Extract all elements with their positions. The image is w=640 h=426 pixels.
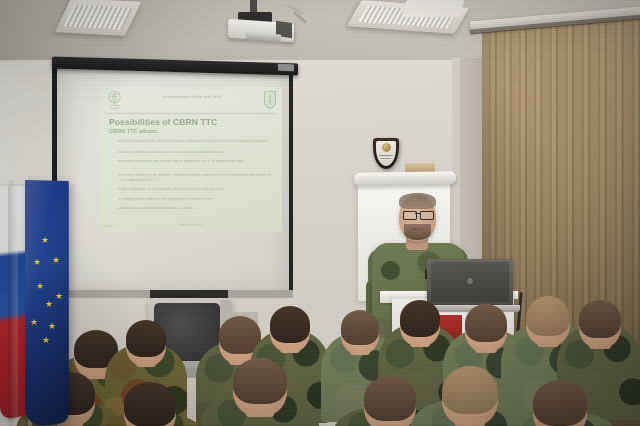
- eu-flag-stars: ★★★★★★★★★: [0, 0, 640, 426]
- briefing-room-photo: Technical bases of NBR and CBRN Possibil…: [0, 0, 640, 426]
- eu-star-icon: ★: [36, 282, 44, 291]
- eu-star-icon: ★: [55, 292, 63, 301]
- eu-star-icon: ★: [42, 336, 50, 345]
- eu-star-icon: ★: [33, 258, 41, 267]
- eu-star-icon: ★: [52, 256, 60, 265]
- eu-star-icon: ★: [48, 322, 56, 331]
- eu-star-icon: ★: [41, 236, 49, 245]
- eu-star-icon: ★: [45, 300, 53, 309]
- eu-star-icon: ★: [30, 318, 38, 327]
